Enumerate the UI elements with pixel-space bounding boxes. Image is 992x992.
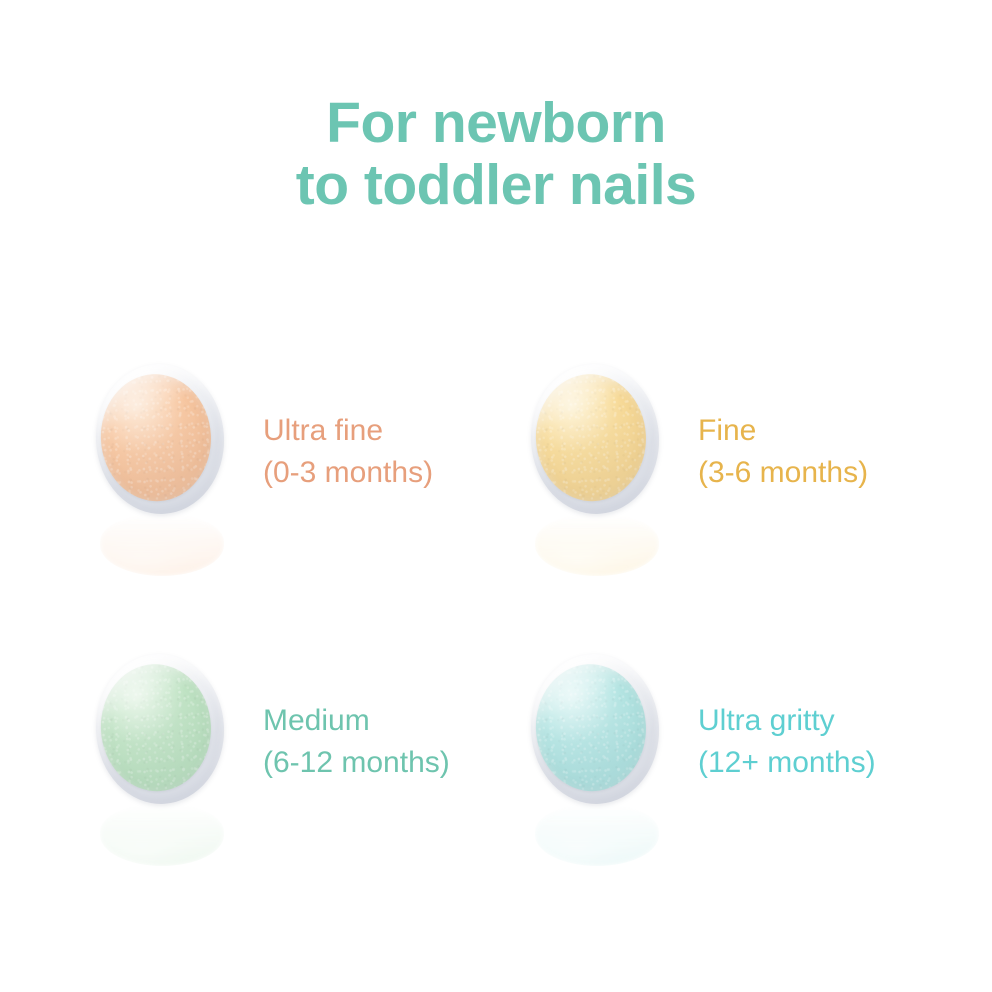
disc-pad [98,371,214,504]
disc-pad [533,661,649,794]
grit-option-age-range: (6-12 months) [263,742,450,784]
grit-option-ultra-gritty[interactable]: Ultra gritty (12+ months) [531,636,876,848]
disc-holder [527,651,663,807]
grit-option-fine[interactable]: Fine (3-6 months) [531,346,868,558]
disc-reflection [100,514,224,576]
disc-reflection [100,804,224,866]
grit-option-age-range: (12+ months) [698,742,876,784]
disc-pad [533,371,649,504]
grit-option-medium[interactable]: Medium (6-12 months) [96,636,450,848]
disc-holder [92,651,228,807]
grit-option-title: Fine [698,410,868,452]
product-info-graphic: For newborn to toddler nails Ultra fine … [0,0,992,992]
grit-options-grid: Ultra fine (0-3 months) Fine (3-6 months… [0,338,992,898]
grit-option-title: Ultra fine [263,410,433,452]
grit-option-label: Fine (3-6 months) [698,410,868,494]
sanding-disc-icon [531,636,663,848]
grit-option-age-range: (3-6 months) [698,452,868,494]
grit-option-title: Medium [263,700,450,742]
disc-reflection [535,514,659,576]
grit-option-age-range: (0-3 months) [263,452,433,494]
disc-holder [92,361,228,517]
disc-pad [98,661,214,794]
sanding-disc-icon [531,346,663,558]
grit-option-label: Medium (6-12 months) [263,700,450,784]
grit-option-ultra-fine[interactable]: Ultra fine (0-3 months) [96,346,433,558]
grit-option-label: Ultra gritty (12+ months) [698,700,876,784]
sanding-disc-icon [96,346,228,558]
grit-option-title: Ultra gritty [698,700,876,742]
grit-option-label: Ultra fine (0-3 months) [263,410,433,494]
disc-holder [527,361,663,517]
page-title: For newborn to toddler nails [0,92,992,216]
disc-reflection [535,804,659,866]
sanding-disc-icon [96,636,228,848]
